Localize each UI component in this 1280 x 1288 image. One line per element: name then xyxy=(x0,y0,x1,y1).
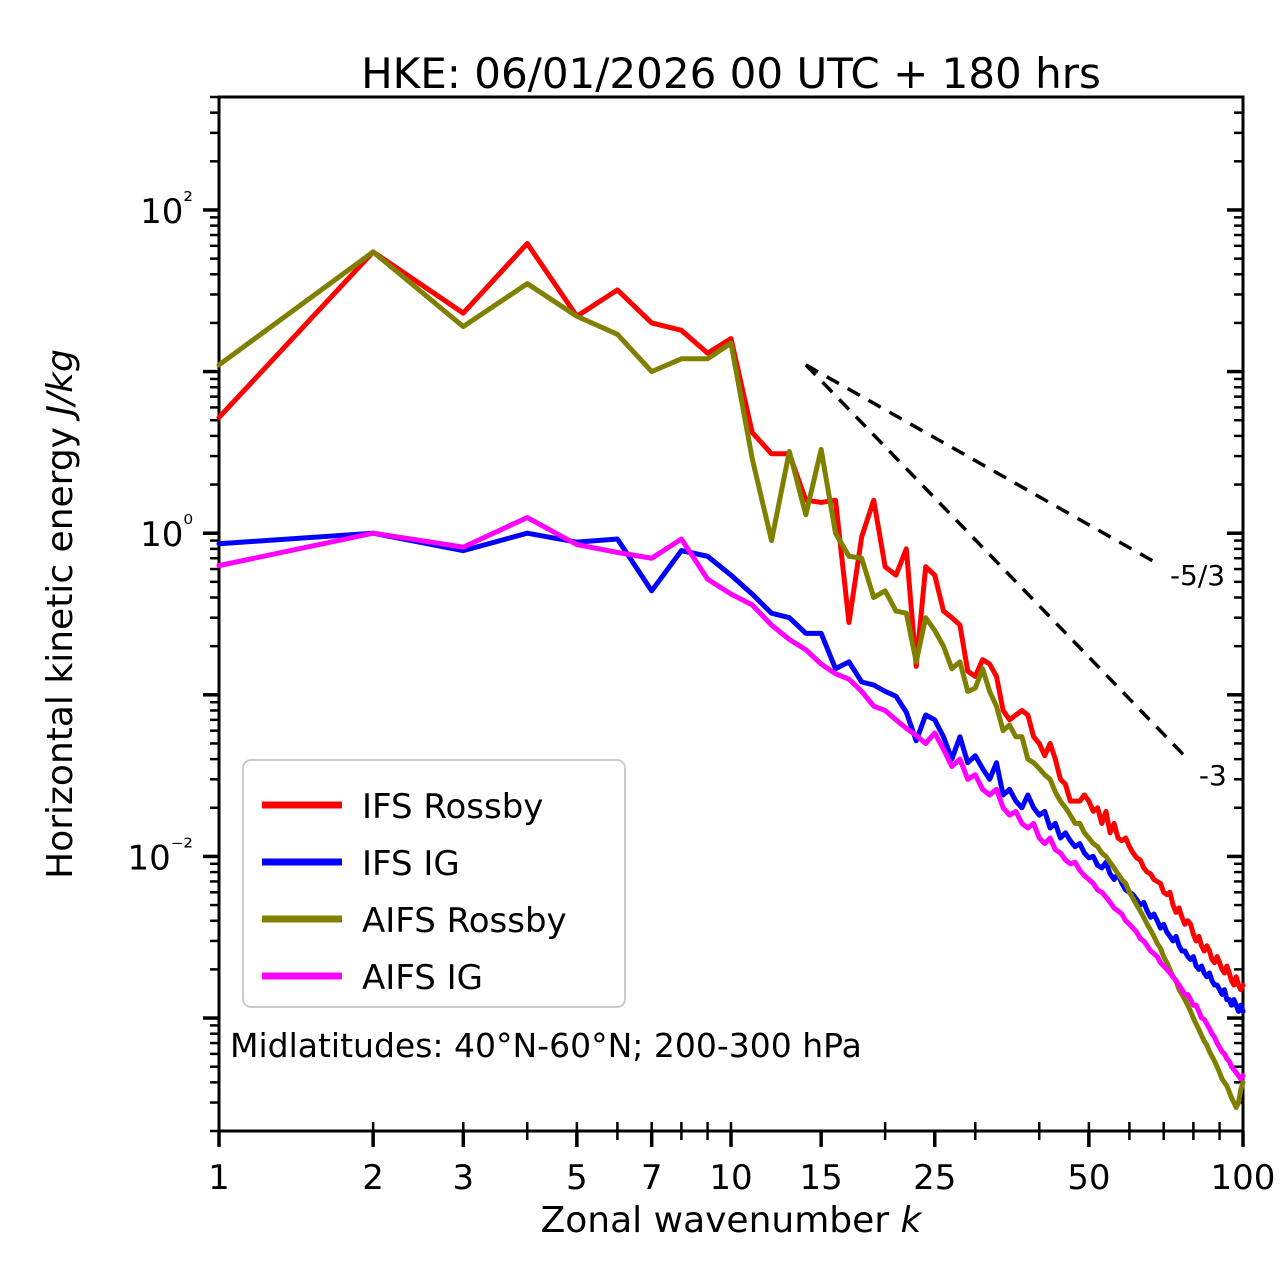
legend-label-1: IFS IG xyxy=(362,844,460,884)
x-tick-label: 25 xyxy=(913,1158,956,1198)
x-tick-label: 15 xyxy=(800,1158,843,1198)
x-tick-label: 100 xyxy=(1211,1158,1276,1198)
y-axis-label: Horizontal kinetic energy J/kg xyxy=(40,349,81,879)
hke-spectrum-chart: HKE: 06/01/2026 00 UTC + 180 hrs 1235710… xyxy=(0,0,1280,1288)
chart-page: HKE: 06/01/2026 00 UTC + 180 hrs 1235710… xyxy=(0,0,1280,1288)
x-tick-label: 2 xyxy=(362,1158,384,1198)
legend-label-2: AIFS Rossby xyxy=(362,901,567,941)
legend[interactable]: IFS RossbyIFS IGAIFS RossbyAIFS IG xyxy=(243,760,625,1007)
x-tick-label: 1 xyxy=(208,1158,230,1198)
legend-label-3: AIFS IG xyxy=(362,958,483,998)
x-axis-label: Zonal wavenumber k xyxy=(541,1200,924,1241)
x-tick-label: 50 xyxy=(1067,1158,1110,1198)
region-annotation: Midlatitudes: 40°N-60°N; 200-300 hPa xyxy=(230,1026,862,1065)
chart-title: HKE: 06/01/2026 00 UTC + 180 hrs xyxy=(361,49,1101,98)
slope-label-b: -3 xyxy=(1199,759,1227,792)
slope-label-a: -5/3 xyxy=(1170,559,1225,592)
x-tick-label: 3 xyxy=(452,1158,474,1198)
legend-label-0: IFS Rossby xyxy=(362,787,543,827)
x-tick-label: 5 xyxy=(566,1158,588,1198)
x-tick-label: 10 xyxy=(709,1158,752,1198)
x-tick-label: 7 xyxy=(641,1158,663,1198)
